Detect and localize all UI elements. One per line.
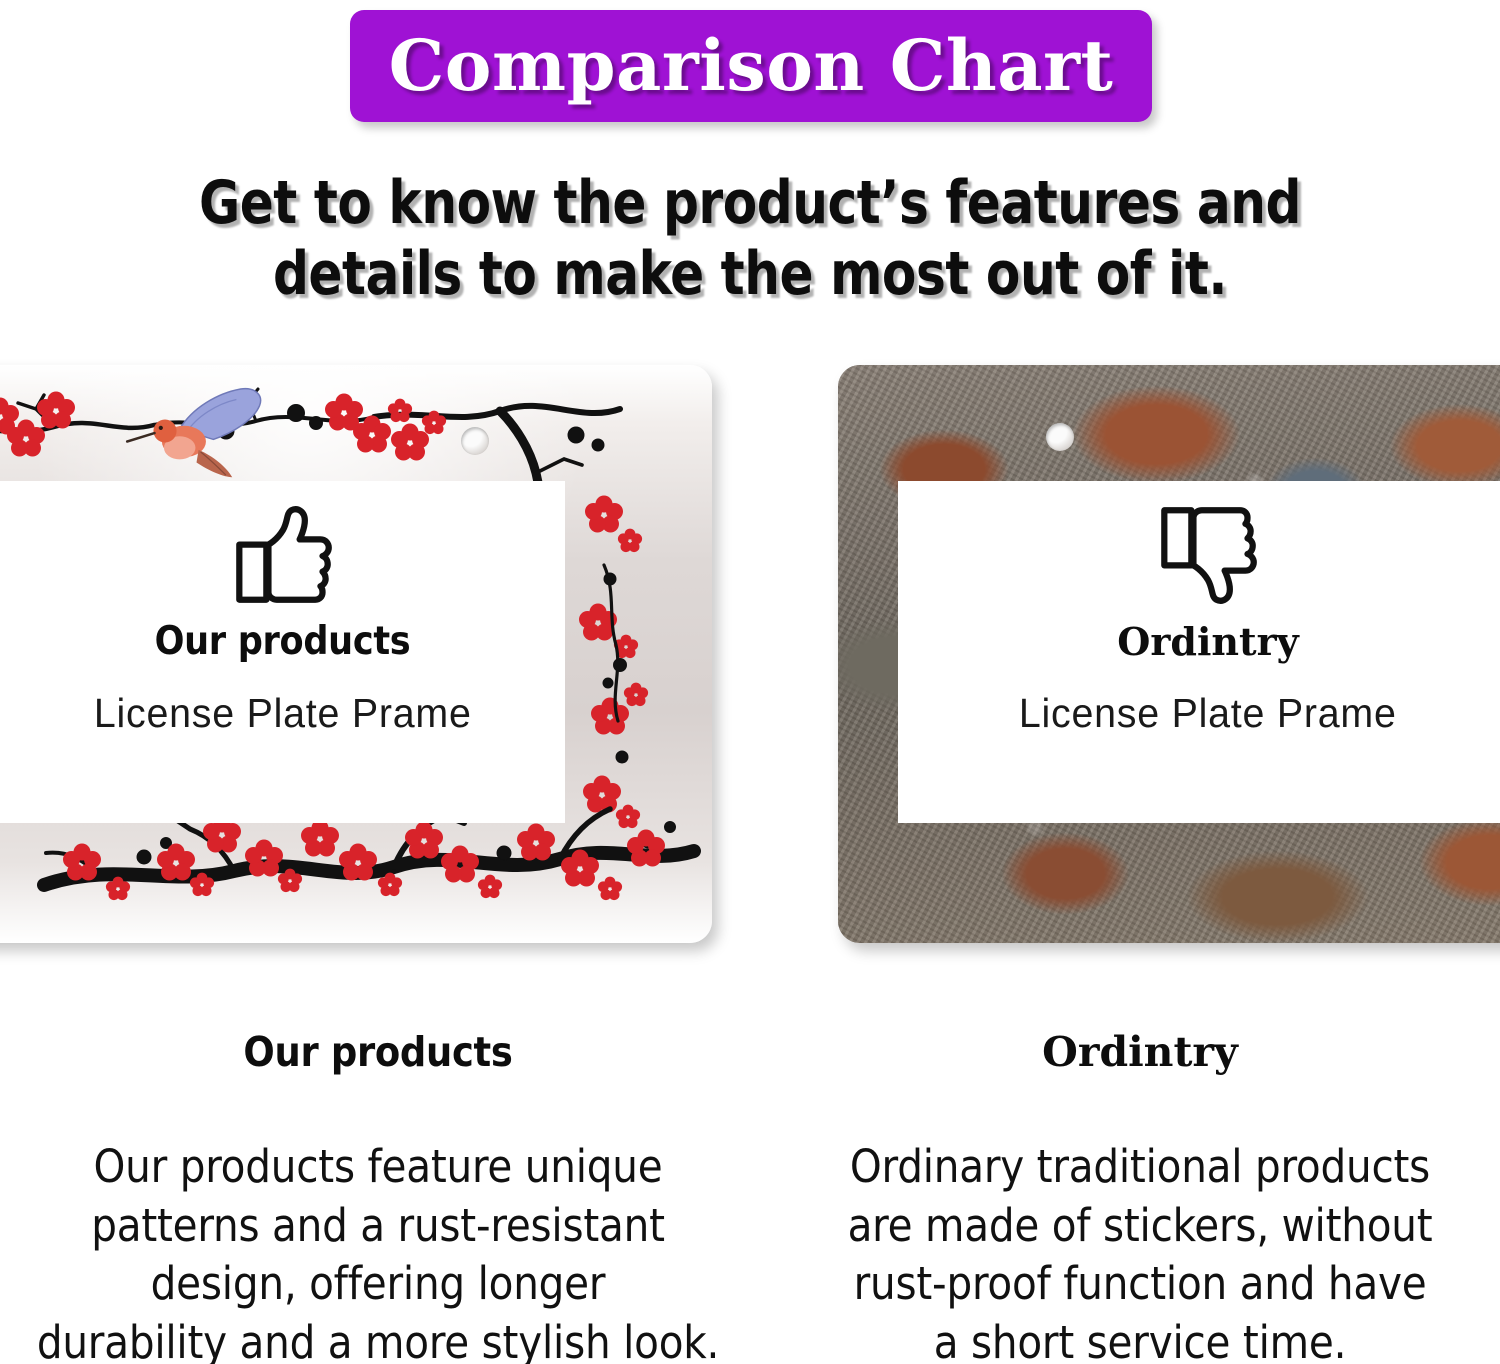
bad-product-plate-frame: Ordintry License Plate Prame [838,365,1500,943]
comparison-chart-page: Comparison Chart Get to know the product… [0,0,1500,1364]
bad-desc-line-3: rust-proof function and have [790,1255,1490,1314]
bad-desc-line-2: are made of stickers, without [790,1197,1490,1256]
good-brand-label: Our products [155,619,411,664]
good-description-column: Our products Our products feature unique… [28,1028,728,1364]
good-plate-content-area: Our products License Plate Prame [0,481,565,823]
bad-plate-screw-hole [1046,423,1074,451]
bad-desc-line-4: a short service time. [790,1314,1490,1364]
bad-description-column: Ordintry Ordinary traditional products a… [790,1028,1490,1364]
bad-plate-content-area: Ordintry License Plate Prame [898,481,1500,823]
good-product-plate-frame: Our products License Plate Prame [0,365,712,943]
good-column-heading: Our products [28,1028,728,1076]
bad-column-heading: Ordintry [790,1028,1490,1076]
good-product-label: License Plate Prame [94,690,472,737]
good-desc-line-3: design, offering longer [28,1255,728,1314]
bad-desc-line-1: Ordinary traditional products [790,1138,1490,1197]
thumbs-down-icon [1156,503,1260,607]
bad-brand-label: Ordintry [1117,619,1298,664]
good-plate-screw-hole [461,427,489,455]
good-desc-line-1: Our products feature unique [28,1138,728,1197]
good-desc-line-4: durability and a more stylish look. [28,1314,728,1364]
good-desc-line-2: patterns and a rust-resistant [28,1197,728,1256]
good-column-body: Our products feature unique patterns and… [28,1138,728,1364]
bad-product-label: License Plate Prame [1019,690,1397,737]
thumbs-up-icon [231,503,335,607]
bad-column-body: Ordinary traditional products are made o… [790,1138,1490,1364]
